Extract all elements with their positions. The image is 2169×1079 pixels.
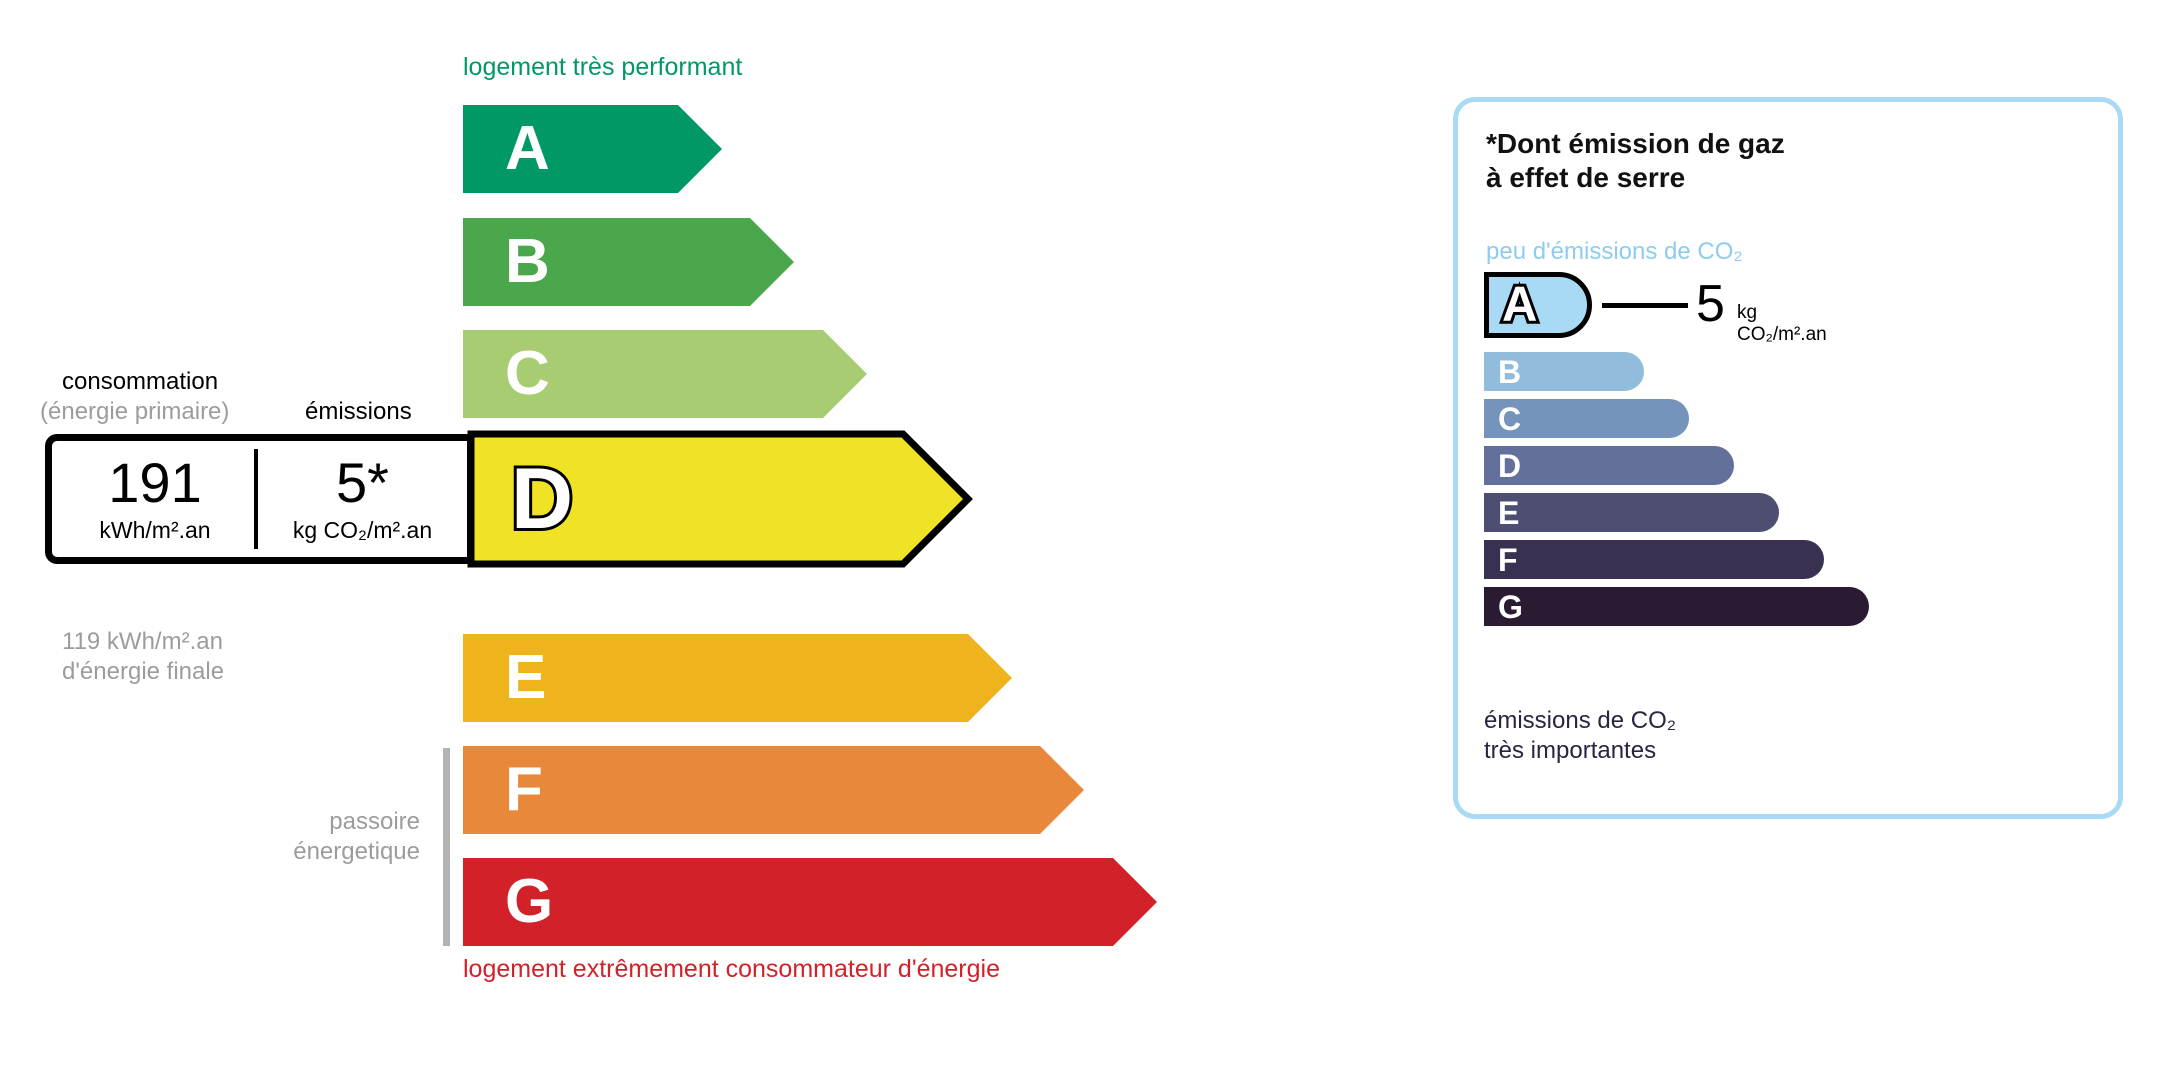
final-energy-line1: 119 kWh/m².an [62, 628, 223, 656]
co2-bar-d: D [1484, 446, 1734, 485]
dpe-label: logement très performant ABCDEFG consomm… [0, 0, 2169, 1079]
co2-bar-letter-d: D [1498, 450, 1521, 482]
energy-band-g: G [463, 858, 1157, 946]
emissions-unit: kg CO₂/m².an [293, 517, 432, 544]
co2-bar-c: C [1484, 399, 1689, 438]
co2-class-a-letter: A [1502, 281, 1537, 330]
energy-band-letter-a: A [505, 118, 550, 180]
energy-band-letter-b: B [505, 231, 550, 293]
consumption-label: consommation [62, 368, 218, 396]
co2-foot-line1: émissions de CO₂ [1484, 707, 1676, 735]
co2-bar-letter-b: B [1498, 356, 1521, 388]
co2-panel-title: *Dont émission de gaz à effet de serre [1486, 127, 1785, 195]
co2-value-unit: kg CO₂/m².an [1737, 302, 1827, 346]
co2-bar-letter-e: E [1498, 497, 1519, 529]
energy-band-letter-g: G [505, 871, 553, 933]
energy-band-c: C [463, 330, 867, 418]
energy-performance-scale: logement très performant ABCDEFG consomm… [0, 0, 1400, 1079]
consumption-unit: kWh/m².an [99, 517, 210, 544]
co2-bar-g: G [1484, 587, 1869, 626]
emissions-value: 5* [336, 455, 389, 511]
emissions-label: émissions [305, 398, 412, 426]
energy-band-letter-d: D [511, 456, 573, 542]
energy-band-b: B [463, 218, 794, 306]
co2-bar-b: B [1484, 352, 1644, 391]
value-info-box: 191 kWh/m².an 5* kg CO₂/m².an [45, 434, 467, 564]
passoire-label-line1: passoire [0, 808, 420, 836]
co2-leader-line [1602, 303, 1688, 308]
co2-title-line1: *Dont émission de gaz [1486, 128, 1785, 159]
co2-bar-letter-c: C [1498, 403, 1521, 435]
co2-bar-letter-f: F [1498, 544, 1518, 576]
energy-band-a: A [463, 105, 722, 193]
emissions-cell: 5* kg CO₂/m².an [258, 441, 467, 557]
energy-band-letter-c: C [505, 343, 550, 405]
co2-bar-letter-g: G [1498, 591, 1523, 623]
co2-bar-f: F [1484, 540, 1824, 579]
co2-top-caption: peu d'émissions de CO₂ [1486, 238, 1743, 266]
energy-band-d: D [463, 426, 976, 572]
scale-top-caption: logement très performant [463, 53, 742, 82]
passoire-bracket [443, 748, 450, 946]
co2-current-class-callout: A 5 kg CO₂/m².an [1484, 272, 1592, 338]
consumption-value: 191 [108, 455, 201, 511]
co2-emissions-panel: *Dont émission de gaz à effet de serre p… [1453, 97, 2123, 819]
scale-bottom-caption: logement extrêmement consommateur d'éner… [463, 955, 1000, 984]
co2-title-line2: à effet de serre [1486, 162, 1685, 193]
energy-band-e: E [463, 634, 1012, 722]
consumption-sublabel: (énergie primaire) [40, 398, 229, 426]
passoire-label-line2: énergetique [0, 838, 420, 866]
co2-class-a-badge: A [1484, 272, 1592, 338]
co2-foot-line2: très importantes [1484, 737, 1656, 765]
energy-band-letter-f: F [505, 759, 543, 821]
consumption-cell: 191 kWh/m².an [52, 441, 258, 557]
final-energy-line2: d'énergie finale [62, 658, 224, 686]
co2-value: 5 [1696, 271, 1725, 337]
co2-bar-e: E [1484, 493, 1779, 532]
energy-band-f: F [463, 746, 1084, 834]
energy-band-letter-e: E [505, 647, 546, 709]
